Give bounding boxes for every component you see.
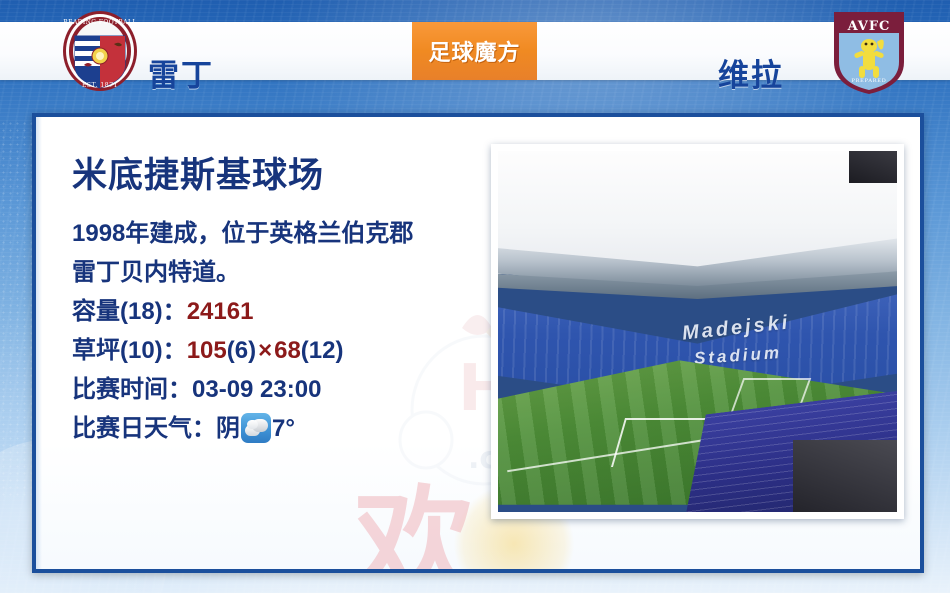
svg-text:AVFC: AVFC [847,19,891,34]
stadium-info-text: 米底捷斯基球场 1998年建成，位于英格兰伯克郡 雷丁贝内特道。 容量(18)：… [72,147,492,448]
aston-villa-crest-icon: AVFC PREPARED [828,6,910,96]
site-brand-label: 足球魔方 [428,35,520,67]
pitch-separator: × [256,337,274,364]
match-time-row: 比赛时间：03-09 23:00 [72,370,492,409]
stadium-info-card: 雷丁 维拉 足球魔方 READING FOOTBALL EST. 1871 [0,0,950,593]
capacity-value: 24161 [187,298,254,325]
weather-row: 比赛日天气：阴7° [72,409,492,448]
reading-fc-crest-icon: READING FOOTBALL EST. 1871 [52,10,148,92]
pitch-width: 68 [274,337,301,364]
panel-edge-highlight [36,117,42,569]
site-brand-logo[interactable]: 足球魔方 [412,22,537,80]
home-team-name: 雷丁 [148,50,214,95]
photo-dark-top [849,151,897,183]
pitch-length: 105 [187,337,227,364]
capacity-row: 容量(18)：24161 [72,292,492,331]
pitch-label: 草坪(10)： [72,337,187,364]
photo-dark-corner [793,440,897,512]
madejski-stadium-photo: Madejski Stadium [498,151,897,512]
pitch-length-rank: (6) [227,337,256,364]
svg-text:EST. 1871: EST. 1871 [82,82,118,89]
stadium-description-line-1: 1998年建成，位于英格兰伯克郡 [72,214,492,253]
weather-temperature: 7° [272,415,295,442]
match-time-value: 03-09 23:00 [192,376,321,403]
cloudy-weather-icon [241,413,271,443]
stadium-description-line-2: 雷丁贝内特道。 [72,253,492,292]
svg-text:READING FOOTBALL: READING FOOTBALL [63,19,136,26]
svg-text:PREPARED: PREPARED [851,78,886,84]
info-panel: H N .co 欢 米底捷斯基球场 1998年建成，位于英格兰伯克郡 雷丁贝内特… [32,113,924,573]
pitch-row: 草坪(10)：105(6)×68(12) [72,331,492,370]
watermark-character: 欢 [354,485,474,569]
weather-label: 比赛日天气： [72,415,216,442]
match-time-label: 比赛时间： [72,376,192,403]
weather-condition: 阴 [216,415,240,442]
stadium-title: 米底捷斯基球场 [72,147,492,198]
away-team-name: 维拉 [718,50,784,95]
capacity-label: 容量(18)： [72,298,187,325]
stadium-photo-frame: Madejski Stadium [491,144,904,519]
info-panel-inner: H N .co 欢 米底捷斯基球场 1998年建成，位于英格兰伯克郡 雷丁贝内特… [36,117,920,569]
pitch-width-rank: (12) [301,337,344,364]
